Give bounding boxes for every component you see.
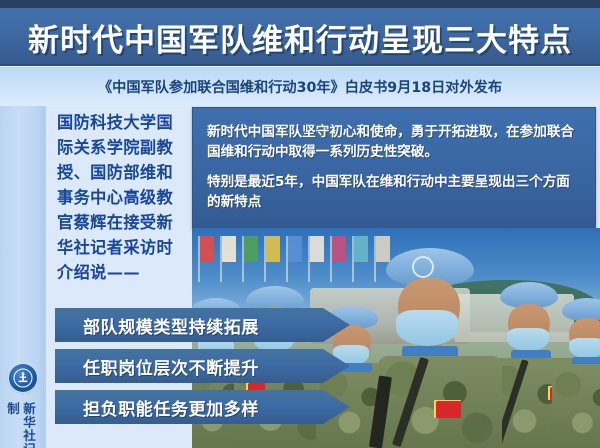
title-band: 新时代中国军队维和行动呈现三大特点 — [0, 8, 600, 66]
page-title: 新时代中国军队维和行动呈现三大特点 — [28, 15, 572, 60]
intro-paragraph: 国防科技大学国际关系学院副教授、国防部维和事务中心高级教官蔡辉在接受新华社记者采… — [57, 110, 185, 285]
statement-box: 新时代中国军队坚守初心和使命，勇于开拓进取，在参加联合国维和行动中取得一系列历史… — [192, 107, 596, 229]
statement-paragraph-2: 特别是最近5年，中国军队在维和行动中主要呈现出三个方面的新特点 — [207, 172, 583, 212]
left-rail: 新华社记者 陈琛 编制 — [0, 106, 46, 448]
top-accent-bar — [0, 0, 600, 8]
key-points-list: 部队规模类型持续拓展 任职岗位层次不断提升 担负职能任务更加多样 — [55, 308, 355, 431]
subtitle-band: 《中国军队参加联合国维和行动30年》白皮书9月18日对外发布 — [0, 66, 600, 107]
key-point-2[interactable]: 任职岗位层次不断提升 — [55, 349, 350, 383]
statement-paragraph-1: 新时代中国军队坚守初心和使命，勇于开拓进取，在参加联合国维和行动中取得一系列历史… — [207, 122, 583, 162]
page-subtitle: 《中国军队参加联合国维和行动30年》白皮书9月18日对外发布 — [98, 77, 502, 97]
key-point-1[interactable]: 部队规模类型持续拓展 — [55, 308, 350, 342]
photo-soldier-foreground — [372, 248, 502, 448]
photo-soldier-bg-5 — [556, 294, 600, 448]
key-point-1-label: 部队规模类型持续拓展 — [55, 313, 259, 338]
key-point-3-label: 担负职能任务更加多样 — [55, 395, 259, 420]
credit-text: 新华社记者 陈琛 编制 — [10, 402, 36, 448]
infographic-poster: 新时代中国军队维和行动呈现三大特点 《中国军队参加联合国维和行动30年》白皮书9… — [0, 0, 600, 448]
key-point-3[interactable]: 担负职能任务更加多样 — [55, 390, 350, 424]
xinhua-logo-icon — [9, 364, 37, 392]
photo-flag-row — [192, 236, 392, 276]
key-point-2-label: 任职岗位层次不断提升 — [55, 354, 259, 379]
